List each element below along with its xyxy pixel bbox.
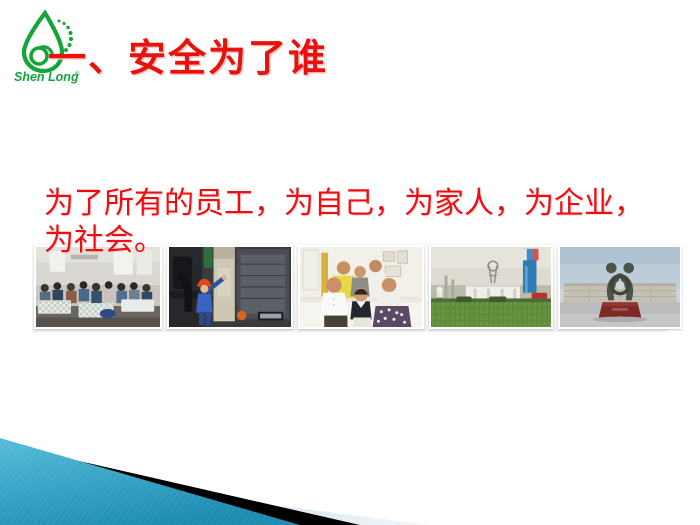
diagonal-band-graphic <box>0 415 700 525</box>
page-title: 一、安全为了谁 <box>48 28 328 88</box>
slide-canvas: Shen Long ® 一、安全为了谁 <box>0 0 700 525</box>
body-paragraph: 为了所有的员工，为自己，为家人，为企业，为社会。 <box>44 186 664 259</box>
bottom-diagonal-band <box>0 415 700 525</box>
page-title-text: 一、安全为了谁 <box>48 39 328 77</box>
